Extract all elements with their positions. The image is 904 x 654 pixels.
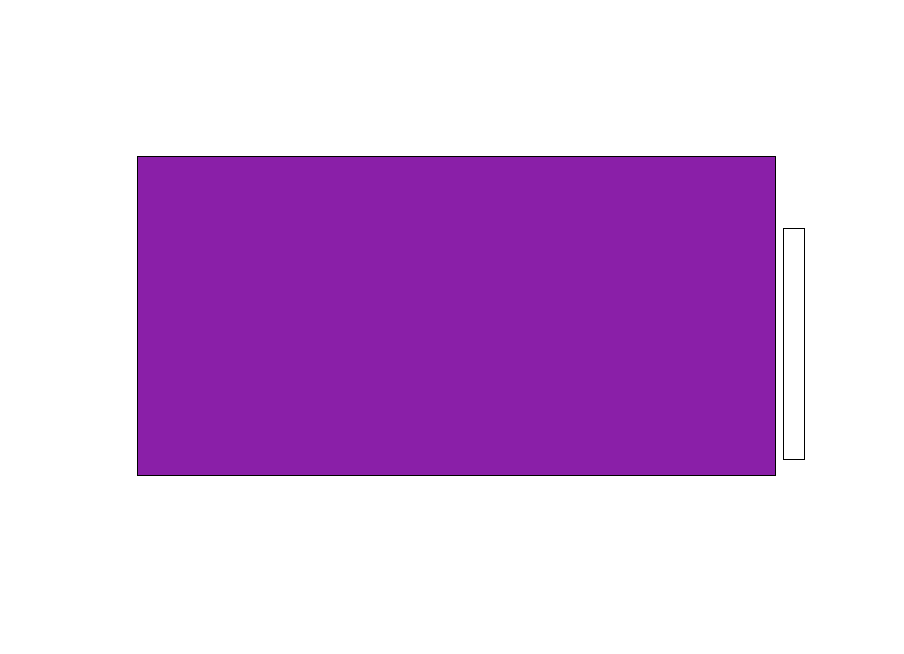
contour-plot [137, 156, 776, 476]
colorbar [783, 228, 805, 460]
